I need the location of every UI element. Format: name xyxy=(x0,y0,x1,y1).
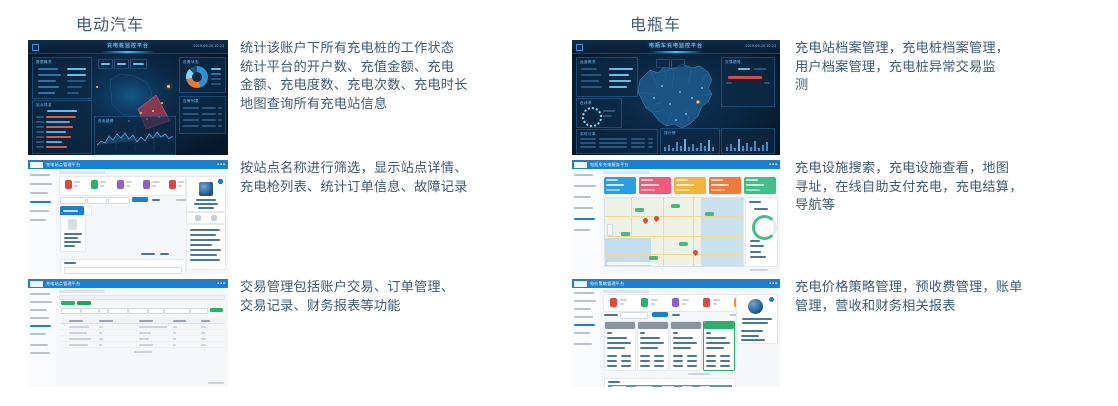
app-logo xyxy=(30,281,43,287)
screenshot-pricing-strategy-admin-screen[interactable]: 电价策略管理平台 ▪ ▪ ▪ xyxy=(572,279,780,387)
page-subtitle-bar xyxy=(59,295,225,300)
description-ev-station-detail: 按站点名称进行筛选，显示站点详情、 充电枪列表、统计订单信息、故障记录 xyxy=(240,160,550,197)
detail-line xyxy=(742,318,772,320)
menu-icon[interactable] xyxy=(576,44,583,51)
legend-item xyxy=(738,68,750,70)
admin-app-title: 电价策略管理平台 xyxy=(590,281,624,287)
station-name xyxy=(196,199,216,201)
gauge-panel: 在线率 xyxy=(576,98,622,128)
status-icon-label xyxy=(682,299,689,301)
rank-label xyxy=(36,121,44,123)
search-button[interactable] xyxy=(652,312,668,317)
rank-label xyxy=(36,136,44,138)
rank-bar xyxy=(46,121,70,123)
gun-info-line xyxy=(64,233,82,235)
stat-value xyxy=(67,92,79,94)
record-search-input[interactable] xyxy=(64,267,182,274)
stats-line xyxy=(190,244,212,246)
query-button[interactable] xyxy=(210,308,223,312)
station-photo-card xyxy=(186,176,226,212)
filter-select-status[interactable] xyxy=(148,308,164,314)
price-card-line xyxy=(621,360,631,362)
description-line: 寻址，在线自助支付充电，充电结算， xyxy=(795,179,1111,198)
screenshot-charging-pile-monitoring-dashboard[interactable]: 充电桩监控平台 2019-09-20 10:23 数据概览 xyxy=(28,40,228,155)
price-card-line xyxy=(607,360,617,362)
map-marker[interactable] xyxy=(167,85,170,88)
description-line: 金额、充电度数、充电次数、充电时长 xyxy=(240,77,550,96)
map-marker[interactable] xyxy=(161,102,163,104)
rank-bar-chart-secondary xyxy=(724,135,772,151)
map-marker[interactable] xyxy=(140,112,142,114)
price-card-line xyxy=(654,365,664,367)
price-card-header-selected xyxy=(704,322,734,329)
stat-label xyxy=(581,74,601,76)
sidebar-item-3[interactable] xyxy=(30,309,47,311)
price-card-line xyxy=(673,365,683,367)
alarm-cell xyxy=(218,113,222,115)
table-cell xyxy=(173,332,176,334)
description-line: 充电枪列表、统计订单信息、故障记录 xyxy=(240,179,550,198)
status-icon-fault[interactable] xyxy=(672,298,679,307)
price-card-line xyxy=(673,332,678,334)
chart-icon[interactable] xyxy=(195,215,201,221)
price-card-line xyxy=(640,355,650,357)
trend-sparkline-chart xyxy=(97,125,173,151)
sidebar-item-7[interactable] xyxy=(30,344,48,346)
app-logo xyxy=(574,281,587,287)
reset-link[interactable] xyxy=(152,199,160,201)
stat-card-title xyxy=(711,179,723,181)
sidebar-item-2[interactable] xyxy=(30,301,52,303)
pagination[interactable] xyxy=(134,351,152,353)
station-stats-card xyxy=(186,224,226,270)
detail-line xyxy=(741,339,765,341)
status-icon-strip xyxy=(59,176,186,196)
status-icon-count xyxy=(682,303,686,305)
filter-input-keyword[interactable] xyxy=(61,308,81,314)
price-card-line xyxy=(720,355,730,357)
sidebar-item-5-active[interactable] xyxy=(574,324,595,326)
status-icon-count xyxy=(126,185,130,187)
filter-select-extra[interactable] xyxy=(190,308,208,314)
light-admin-pricing: 电价策略管理平台 ▪ ▪ ▪ xyxy=(572,279,780,387)
admin-app-title: 充电站点管理平台 xyxy=(46,162,80,168)
gauge-legend xyxy=(603,115,612,117)
report-icon[interactable] xyxy=(211,215,217,221)
description-line: 地图查询所有充电站信息 xyxy=(240,96,550,115)
tab-account-transaction[interactable] xyxy=(61,301,75,305)
stat-card-value xyxy=(676,184,694,186)
trend-bar xyxy=(728,76,762,79)
stat-value xyxy=(67,80,86,82)
rank-bar xyxy=(46,126,73,128)
stat-card-fault[interactable] xyxy=(709,177,741,194)
description-line: 交易记录、财务报表等功能 xyxy=(240,298,550,317)
status-icon-label xyxy=(178,181,184,183)
station-code xyxy=(198,207,214,209)
price-card-line xyxy=(687,360,697,362)
map-road xyxy=(663,198,664,266)
admin-sidebar xyxy=(28,169,57,274)
table-cell xyxy=(69,332,87,334)
list-cell xyxy=(599,138,627,140)
ranking-panel-title: 站点排名 xyxy=(36,103,52,108)
stat-card-total[interactable] xyxy=(604,177,636,194)
rank-label xyxy=(36,141,44,143)
expand-icon[interactable] xyxy=(769,297,774,302)
price-card-line xyxy=(640,347,658,349)
stat-label xyxy=(581,80,599,82)
pagination[interactable] xyxy=(688,373,710,375)
status-icon-count xyxy=(620,303,624,305)
filter-select-type[interactable] xyxy=(87,197,107,204)
column-title-ebike: 电瓶车 xyxy=(630,11,681,35)
stat-card-title xyxy=(641,179,653,181)
table-cell xyxy=(139,326,167,328)
dashboard-title: 电瓶车充电监控平台 xyxy=(649,42,703,49)
stat-label xyxy=(38,68,58,70)
fault-record-panel xyxy=(60,259,186,274)
price-card-line xyxy=(673,360,683,362)
rank-panel-title: 排行榜 xyxy=(664,131,676,136)
app-logo xyxy=(30,162,43,168)
price-card-line xyxy=(640,365,650,367)
ranking-subtitle xyxy=(47,110,77,112)
stats-line xyxy=(750,245,764,247)
stat-label xyxy=(38,86,59,88)
price-card-line xyxy=(640,360,650,362)
admin-user-menu[interactable]: ▪ ▪ ▪ xyxy=(217,281,225,285)
column-header xyxy=(139,320,153,322)
price-card-line xyxy=(607,337,627,339)
rank-bar-chart xyxy=(663,137,717,151)
sidebar-item-5-active[interactable] xyxy=(574,218,595,220)
table-cell xyxy=(99,338,103,340)
stat-value xyxy=(609,86,627,88)
screenshot-transaction-management-admin-screen[interactable]: 充电站点管理平台 ▪ ▪ ▪ xyxy=(28,279,228,387)
admin-user-menu[interactable]: ▪ ▪ ▪ xyxy=(769,281,777,285)
row-ev-station-detail: 充电站点管理平台 ▪ ▪ ▪ xyxy=(0,160,559,275)
column-title-ev: 电动汽车 xyxy=(76,11,144,35)
search-button[interactable] xyxy=(132,197,148,202)
price-card-line xyxy=(673,355,683,357)
footer-text xyxy=(208,382,224,384)
status-icon-label xyxy=(126,181,132,183)
description-line: 充电站档案管理，充电桩档案管理， xyxy=(795,40,1111,59)
pagination-text xyxy=(141,253,155,255)
sidebar-item-3[interactable] xyxy=(574,196,591,198)
price-card-header xyxy=(671,322,701,329)
status-icon-fault[interactable] xyxy=(117,180,124,189)
status-icon-count xyxy=(178,185,182,187)
table-row[interactable] xyxy=(61,342,225,348)
status-icon-count xyxy=(651,303,655,305)
legend-item xyxy=(211,73,221,75)
sidebar-item-5-active[interactable] xyxy=(30,325,51,327)
map-marker[interactable] xyxy=(96,86,98,88)
sidebar-item-1[interactable] xyxy=(30,174,50,176)
stat-card-value xyxy=(606,184,624,186)
rank-panel-secondary xyxy=(721,128,775,154)
screenshot-ebike-monitoring-dashboard[interactable]: 电瓶车充电监控平台 2019-09-20 10:23 运营概览 xyxy=(572,40,780,155)
light-admin-station: 充电站点管理平台 ▪ ▪ ▪ xyxy=(28,160,228,274)
sidebar-item-2[interactable] xyxy=(30,183,52,185)
price-card-line xyxy=(607,342,631,344)
stat-value xyxy=(609,74,629,76)
sidebar-item-6[interactable] xyxy=(574,229,590,231)
light-admin-transaction: 充电站点管理平台 ▪ ▪ ▪ xyxy=(28,279,228,387)
facility-donut-chart xyxy=(752,215,777,240)
map-pin-station[interactable] xyxy=(642,217,649,224)
table-cell xyxy=(201,344,206,346)
china-map[interactable] xyxy=(628,58,724,136)
filter-input-station[interactable] xyxy=(164,308,190,314)
map-label-chip xyxy=(621,232,630,236)
title-underline-glow xyxy=(101,51,155,53)
admin-content xyxy=(600,169,780,274)
status-icon-idle[interactable] xyxy=(610,298,617,307)
reset-link[interactable] xyxy=(672,314,680,316)
station-action-card xyxy=(186,212,226,224)
breadcrumb xyxy=(59,171,105,174)
filter-select-small[interactable] xyxy=(99,308,108,314)
sidebar-item-2[interactable] xyxy=(574,185,596,187)
price-card-line xyxy=(706,365,716,367)
list-panel-title: 实时订单 xyxy=(580,132,596,137)
filter-date-start[interactable] xyxy=(108,308,128,314)
filter-input-station-name[interactable] xyxy=(60,197,86,204)
row-ev-monitor: 充电桩监控平台 2019-09-20 10:23 数据概览 xyxy=(0,40,559,155)
admin-content xyxy=(56,169,228,274)
map-filter-button-2[interactable] xyxy=(671,59,685,68)
stat-card-online[interactable] xyxy=(744,177,776,194)
charging-gun-icon xyxy=(68,219,77,230)
alarm-cell xyxy=(218,125,222,127)
stats-line xyxy=(190,249,221,251)
filter-select-type[interactable] xyxy=(81,308,99,314)
light-admin-map-screen: 电瓶车充电服务平台 ▪ ▪ ▪ xyxy=(572,160,780,274)
gun-info-line xyxy=(64,237,78,239)
status-icon-count xyxy=(152,185,156,187)
sidebar-item-2[interactable] xyxy=(574,300,596,302)
stats-line xyxy=(750,256,766,258)
alarm-cell xyxy=(202,125,216,127)
gun-tab-label xyxy=(63,210,78,212)
table-cell xyxy=(173,338,176,340)
list-cell xyxy=(580,138,596,140)
sidebar-item-4[interactable] xyxy=(574,316,593,318)
admin-user-menu[interactable]: ▪ ▪ ▪ xyxy=(217,162,225,166)
dark-dashboard-ev: 充电桩监控平台 2019-09-20 10:23 数据概览 xyxy=(28,40,228,155)
stat-card-idle[interactable] xyxy=(674,177,706,194)
station-thumbnail[interactable] xyxy=(199,182,213,196)
table-cell xyxy=(173,344,176,346)
status-icon-charging[interactable] xyxy=(91,180,98,189)
list-cell xyxy=(631,138,645,140)
stat-label xyxy=(581,86,602,88)
price-card-line xyxy=(621,355,631,357)
trend-panel-title: 充电趋势 xyxy=(98,119,114,124)
stat-value xyxy=(67,68,86,70)
price-card-line xyxy=(673,347,691,349)
stat-card-charging[interactable] xyxy=(639,177,671,194)
list-cell xyxy=(648,146,653,148)
list-cell xyxy=(631,142,645,144)
station-avatar[interactable] xyxy=(748,299,763,314)
status-icon-label xyxy=(74,181,80,183)
table-cell xyxy=(139,338,149,340)
facility-map[interactable] xyxy=(604,197,744,267)
description-line: 统计平台的开户数、充值金额、充电 xyxy=(240,59,550,78)
title-underline-glow xyxy=(649,51,703,53)
row-ebike-pricing: 电价策略管理平台 ▪ ▪ ▪ xyxy=(559,279,1118,389)
alarm-cell xyxy=(202,107,216,109)
map-road xyxy=(605,254,743,255)
sidebar-item-6[interactable] xyxy=(30,219,46,221)
map-label-chip xyxy=(671,204,680,208)
column-header xyxy=(201,320,210,322)
overview-panel-title: 运营概览 xyxy=(580,60,596,65)
map-zoom-control[interactable] xyxy=(607,224,613,236)
stats-line xyxy=(190,259,220,261)
sidebar-item-6[interactable] xyxy=(574,332,590,334)
sidebar-item-5[interactable] xyxy=(30,210,49,212)
status-icon-offline[interactable] xyxy=(703,298,710,307)
ranking-panel: 站点排名 xyxy=(32,100,92,154)
status-icon-strip xyxy=(603,294,736,312)
filter-date-end[interactable] xyxy=(128,308,148,314)
table-cell xyxy=(99,332,102,334)
breadcrumb xyxy=(603,171,649,174)
sidebar-item-4-active[interactable] xyxy=(30,201,51,203)
legend-item xyxy=(211,68,221,70)
sidebar-item-3[interactable] xyxy=(30,192,48,194)
alarm-cell xyxy=(202,113,216,115)
column-header xyxy=(612,386,626,387)
map-road xyxy=(631,198,632,266)
price-card-header xyxy=(605,322,635,329)
list-cell xyxy=(631,146,645,148)
status-icon-offline[interactable] xyxy=(143,180,150,189)
table-cell xyxy=(69,344,88,346)
sidebar-item-8[interactable] xyxy=(30,352,50,354)
description-line: 导航等 xyxy=(795,197,1111,216)
stat-label xyxy=(38,80,56,82)
filter-select-status[interactable] xyxy=(108,197,130,204)
row-ebike-monitor: 电瓶车充电监控平台 2019-09-20 10:23 运营概览 xyxy=(559,40,1118,155)
sidebar-item-1[interactable] xyxy=(574,292,594,294)
description-line: 统计该账户下所有充电桩的工作状态 xyxy=(240,40,550,59)
status-icon-reserved[interactable] xyxy=(169,180,176,189)
sidebar-item-1[interactable] xyxy=(574,174,593,176)
sidebar-item-6[interactable] xyxy=(30,333,46,335)
description-line: 按站点名称进行筛选，显示站点详情、 xyxy=(240,160,550,179)
rank-label xyxy=(36,126,44,128)
status-icon-label xyxy=(713,299,720,301)
sidebar-item-1[interactable] xyxy=(30,293,50,295)
stats-line xyxy=(190,234,216,236)
sidebar-item-3[interactable] xyxy=(574,308,591,310)
dashboard-title: 充电桩监控平台 xyxy=(107,42,149,49)
table-header xyxy=(608,385,732,387)
filter-input-keyword[interactable] xyxy=(620,312,648,319)
rank-label xyxy=(36,146,44,148)
pagination-text xyxy=(160,253,169,255)
admin-app-title: 电瓶车充电服务平台 xyxy=(590,162,629,168)
list-cell xyxy=(599,146,627,148)
price-card-selected[interactable] xyxy=(703,321,735,371)
price-card-line xyxy=(706,360,716,362)
price-card[interactable] xyxy=(637,321,669,371)
admin-content xyxy=(56,288,228,387)
panel-title xyxy=(64,262,76,264)
filter-label xyxy=(604,314,618,316)
row-ev-transaction: 充电站点管理平台 ▪ ▪ ▪ xyxy=(0,279,559,389)
table-cell xyxy=(201,332,206,334)
description-ev-transaction: 交易管理包括账户交易、订单管理、 交易记录、财务报表等功能 xyxy=(240,279,550,316)
trend-panel: 交易趋势 xyxy=(721,57,775,107)
price-card-line xyxy=(607,365,617,367)
table-cell xyxy=(99,344,102,346)
sidebar-item-7[interactable] xyxy=(574,343,592,345)
price-card-line xyxy=(673,337,693,339)
map-filter-button-1[interactable] xyxy=(656,59,670,68)
description-line: 用户档案管理，充电桩异常交易监 xyxy=(795,59,1111,78)
screenshot-charging-facility-map-screen[interactable]: 电瓶车充电服务平台 ▪ ▪ ▪ xyxy=(572,160,780,274)
price-card[interactable] xyxy=(670,321,702,371)
alarm-cell xyxy=(218,107,222,109)
sidebar-item-4[interactable] xyxy=(574,207,593,209)
map-marker[interactable] xyxy=(152,110,154,112)
status-icon-charging[interactable] xyxy=(641,298,648,307)
donut-hole xyxy=(192,72,202,82)
axis-label xyxy=(726,82,732,84)
stat-card-sub xyxy=(641,189,655,191)
description-line: 充电价格策略管理，预收费管理，账单 xyxy=(795,279,1111,298)
column-header xyxy=(700,386,710,387)
description-ev-monitor: 统计该账户下所有充电桩的工作状态 统计平台的开户数、充值金额、充电 金额、充电度… xyxy=(240,40,550,114)
facility-stats-panel xyxy=(745,197,778,267)
list-cell xyxy=(648,138,653,140)
status-icon-idle[interactable] xyxy=(65,180,72,189)
detail-panel xyxy=(736,294,778,344)
stat-card-sub xyxy=(746,189,760,191)
legend-item xyxy=(211,78,221,80)
rank-bar xyxy=(46,131,66,133)
stats-line xyxy=(190,239,220,241)
sidebar-item-4[interactable] xyxy=(30,317,49,319)
menu-icon[interactable] xyxy=(32,44,39,51)
description-ebike-pricing: 充电价格策略管理，预收费管理，账单 管理，营收和财务相关报表 xyxy=(795,279,1111,316)
expand-icon[interactable] xyxy=(218,179,223,184)
table-cell xyxy=(139,332,151,334)
alarm-cell xyxy=(183,107,199,109)
screenshot-station-detail-admin-screen[interactable]: 充电站点管理平台 ▪ ▪ ▪ xyxy=(28,160,228,274)
tab-order-management[interactable] xyxy=(77,301,91,305)
trend-panel-title: 交易趋势 xyxy=(725,60,741,65)
admin-app-title: 充电站点管理平台 xyxy=(46,281,80,287)
price-card[interactable] xyxy=(604,321,636,371)
axis-label xyxy=(764,82,770,84)
price-card-line xyxy=(640,342,664,344)
description-line: 管理，营收和财务相关报表 xyxy=(795,298,1111,317)
table-cell xyxy=(201,326,206,328)
admin-user-menu[interactable]: ▪ ▪ ▪ xyxy=(769,162,777,166)
status-donut-panel: 设备状态 xyxy=(179,57,226,93)
stats-line xyxy=(190,229,220,231)
gauge-panel-title: 在线率 xyxy=(580,101,592,106)
station-address xyxy=(194,203,218,205)
